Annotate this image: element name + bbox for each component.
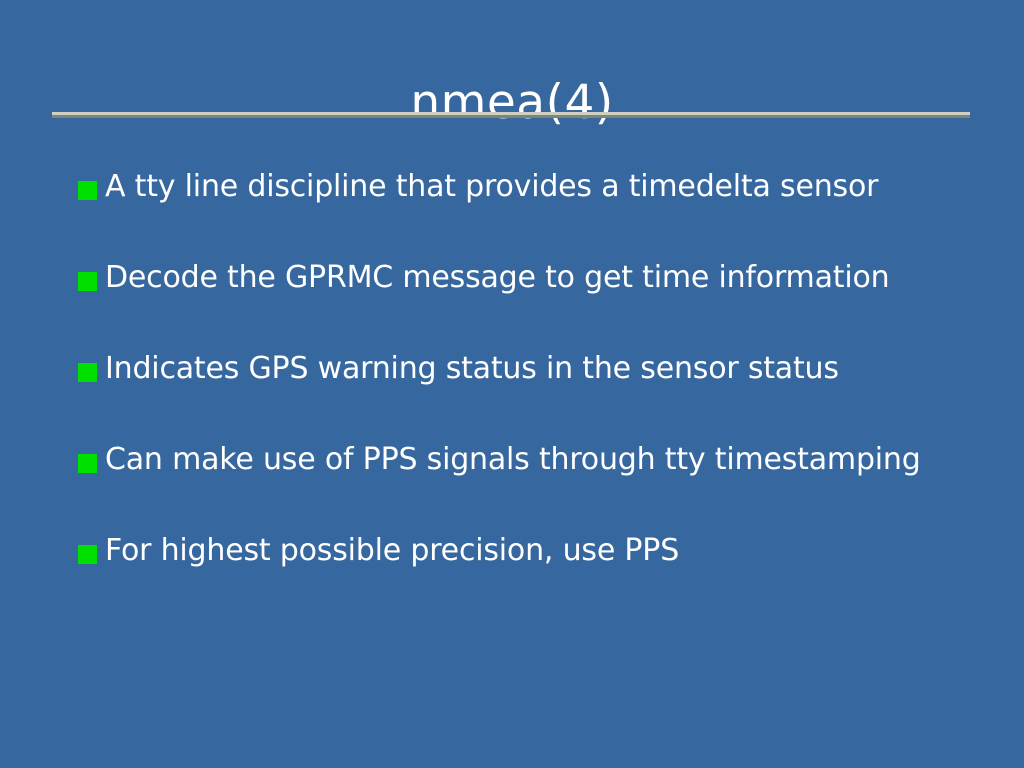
green-square-bullet-icon: [78, 454, 97, 473]
presentation-slide: nmea(4) A tty line discipline that provi…: [0, 0, 1024, 768]
list-item: Can make use of PPS signals through tty …: [78, 439, 998, 530]
green-square-bullet-icon: [78, 545, 97, 564]
divider-shadow-line: [52, 115, 970, 118]
bullet-item-label: Decode the GPRMC message to get time inf…: [105, 257, 998, 299]
bullet-list: A tty line discipline that provides a ti…: [78, 166, 998, 621]
bullet-item-label: Can make use of PPS signals through tty …: [105, 439, 998, 481]
green-square-bullet-icon: [78, 363, 97, 382]
bullet-item-label: For highest possible precision, use PPS: [105, 530, 998, 572]
page-title: nmea(4): [410, 75, 613, 131]
list-item: Decode the GPRMC message to get time inf…: [78, 257, 998, 348]
list-item: For highest possible precision, use PPS: [78, 530, 998, 621]
green-square-bullet-icon: [78, 272, 97, 291]
bullet-item-label: A tty line discipline that provides a ti…: [105, 166, 998, 208]
list-item: Indicates GPS warning status in the sens…: [78, 348, 998, 439]
slide-title-area: nmea(4): [0, 44, 1024, 163]
bullet-item-label: Indicates GPS warning status in the sens…: [105, 348, 998, 390]
list-item: A tty line discipline that provides a ti…: [78, 166, 998, 257]
green-square-bullet-icon: [78, 181, 97, 200]
title-divider-rule: [52, 112, 970, 118]
